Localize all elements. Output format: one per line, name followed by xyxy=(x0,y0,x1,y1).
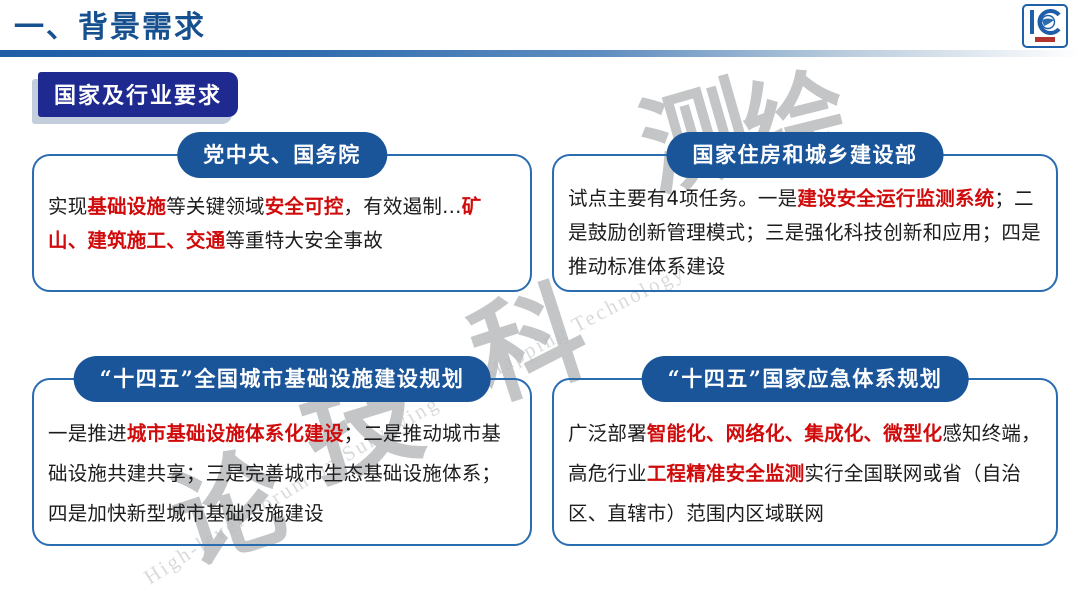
card-body-text: 广泛部署智能化、网络化、集成化、微型化感知终端，高危行业工程精准安全监测实行全国… xyxy=(568,414,1042,534)
info-card: “十四五”国家应急体系规划 广泛部署智能化、网络化、集成化、微型化感知终端，高危… xyxy=(552,378,1058,546)
card-body-text: 一是推进城市基础设施体系化建设；二是推动城市基础设施共建共享；三是完善城市生态基… xyxy=(48,414,516,534)
page-title: 一、背景需求 xyxy=(14,2,206,46)
info-card: 国家住房和城乡建设部 试点主要有4项任务。一是建设安全运行监测系统；二是鼓励创新… xyxy=(552,154,1058,292)
card-title-pill: 党中央、国务院 xyxy=(177,132,387,178)
section-banner-label: 国家及行业要求 xyxy=(38,72,238,117)
card-title-pill: 国家住房和城乡建设部 xyxy=(667,132,944,178)
slide-root: 测 绘 科 技 论 High-level Forum on Surveying … xyxy=(0,0,1080,607)
card-body-text: 实现基础设施等关键领域安全可控，有效遏制…矿山、建筑施工、交通等重特大安全事故 xyxy=(48,190,516,258)
card-title-pill: “十四五”全国城市基础设施建设规划 xyxy=(74,356,491,402)
info-card: “十四五”全国城市基础设施建设规划 一是推进城市基础设施体系化建设；二是推动城市… xyxy=(32,378,532,546)
section-banner: 国家及行业要求 xyxy=(38,72,238,117)
title-underline-rule xyxy=(0,50,1080,57)
chongqing-surveying-institute-logo-icon xyxy=(1022,4,1068,48)
card-body-text: 试点主要有4项任务。一是建设安全运行监测系统；二是鼓励创新管理模式；三是强化科技… xyxy=(568,182,1042,284)
slide-header: 一、背景需求 xyxy=(0,0,1080,62)
card-title-pill: “十四五”国家应急体系规划 xyxy=(642,356,969,402)
info-card: 党中央、国务院 实现基础设施等关键领域安全可控，有效遏制…矿山、建筑施工、交通等… xyxy=(32,154,532,292)
